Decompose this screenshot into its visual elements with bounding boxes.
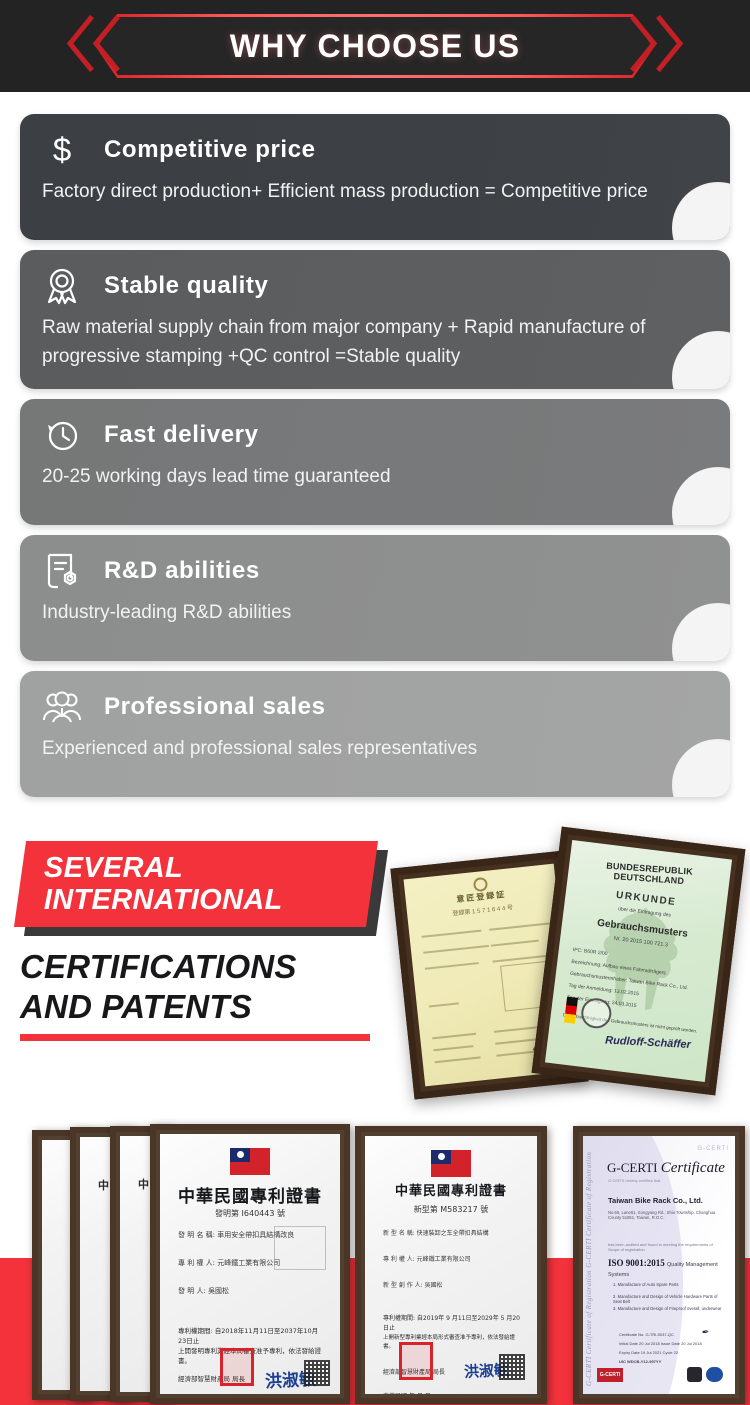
feature-title: Fast delivery [104, 422, 259, 448]
germany-utility-model-frame: BUNDESREPUBLIK DEUTSCHLAND URKUNDE über … [532, 827, 746, 1096]
g-certi-meta-2: Expiry Date 19 Jul 2021 Cycle 22 [619, 1350, 678, 1355]
feature-title: Stable quality [104, 273, 268, 299]
taiwan-mid-field-2: 新 型 創 作 人: 吳國松 [383, 1280, 443, 1289]
taiwan-utility-model-frame: 中華民國專利證書 新型第 M583217 號 新 型 名 稱: 快速裝卸之车全帶… [355, 1126, 547, 1404]
taiwan-field-2: 發 明 人: 吳國松 [178, 1286, 229, 1296]
g-certi-note: has been audited and found in meeting th… [608, 1242, 723, 1252]
g-certi-side-text: G-CERTI Certificate of Registration G-CE… [585, 1144, 605, 1386]
award-medal-icon [42, 266, 82, 306]
g-certi-meta-3: UIC WDCB-Y12-997YY [619, 1359, 661, 1364]
feature-card: Fast delivery 20-25 working days lead ti… [20, 399, 730, 525]
g-certi-badge: G-CERTI [597, 1368, 623, 1382]
g-certi-frame: G-CERTI Certificate of Registration G-CE… [573, 1126, 745, 1404]
clock-rewind-icon [42, 415, 82, 455]
taiwan-mid-seal [399, 1342, 433, 1380]
g-certi-meta-1: Initial Date 20 Jul 2018 Issue Date 20 J… [619, 1341, 702, 1346]
g-certi-address: No.60, Lane51, Songyang Rd., Shiu Townsh… [608, 1210, 725, 1220]
taiwan-red-seal [220, 1348, 254, 1386]
taiwan-field-1: 專 利 權 人: 元峰鐵工業有限公司 [178, 1258, 280, 1268]
taiwan-flag-icon [431, 1150, 471, 1177]
page-title: WHY CHOOSE US [95, 14, 655, 78]
banner-line-2: INTERNATIONAL [44, 884, 372, 916]
g-certi-scope-2: 3. Manufacture and Design of Fireproof o… [613, 1306, 725, 1311]
feature-description: Factory direct production+ Efficient mas… [42, 178, 706, 207]
taiwan-term: 專利權期間: 自2018年11月11日至2037年10月23日止 [178, 1326, 326, 1347]
certifications-intro: SEVERAL INTERNATIONAL CERTIFICATIONS AND… [0, 829, 750, 1099]
kab-mark-icon [687, 1367, 702, 1382]
g-certi-standard: ISO 9001:2015 Quality Management Systems [608, 1258, 735, 1278]
taiwan-mid-date: 中華民國 年 月 日 [383, 1392, 523, 1394]
heading-line-2: AND PATENTS [20, 987, 400, 1027]
bottom-certificate-row: 中 中 中華民國專利證書 發明第 Ⅰ640443 號 發 明 名 稱: 車用安全… [0, 1124, 750, 1405]
feature-description: 20-25 working days lead time guaranteed [42, 463, 706, 492]
g-certi-watermark: G-CERTI [697, 1146, 729, 1152]
g-certi-standard-code: ISO 9001:2015 [608, 1258, 665, 1268]
feature-description: Experienced and professional sales repre… [42, 735, 706, 764]
feature-card: R&D abilities Industry-leading R&D abili… [20, 535, 730, 661]
feature-title: Professional sales [104, 694, 326, 720]
g-certi-brand: G-CERTI [607, 1160, 658, 1175]
taiwan-drawing-box [274, 1226, 326, 1270]
g-certi-signature: ✒ [701, 1327, 709, 1339]
iaf-mark-icon [706, 1367, 723, 1382]
taiwan-mid-term: 專利權期間: 自2019年 9 月11日至2029年 5 月20日止 [383, 1314, 523, 1333]
svg-text:$: $ [53, 132, 71, 168]
heading-underline [20, 1034, 370, 1041]
taiwan-mid-qr-code [499, 1354, 525, 1380]
germany-country-line: BUNDESREPUBLIK DEUTSCHLAND [574, 858, 724, 888]
feature-card: $ Competitive price Factory direct produ… [20, 114, 730, 240]
certifications-heading: SEVERAL INTERNATIONAL CERTIFICATIONS AND… [20, 841, 400, 1041]
people-group-icon [42, 687, 82, 727]
taiwan-flag-icon [230, 1148, 270, 1175]
heading-line-1: CERTIFICATIONS [20, 947, 400, 987]
taiwan-cert-number: 發明第 Ⅰ640443 號 [160, 1208, 340, 1219]
title-banner: WHY CHOOSE US [95, 14, 655, 78]
g-certi-company: Taiwan Bike Rack Co., Ltd. [608, 1196, 703, 1205]
g-certi-accreditation-marks [687, 1367, 723, 1382]
taiwan-mid-sketch [481, 1224, 525, 1270]
taiwan-mid-field-0: 新 型 名 稱: 快速裝卸之车全帶扣具結構 [383, 1228, 489, 1237]
taiwan-mid-field-1: 專 利 權 人: 元峰鐵工業有限公司 [383, 1254, 471, 1263]
feature-title: R&D abilities [104, 558, 260, 584]
red-banner: SEVERAL INTERNATIONAL [14, 841, 378, 927]
feature-card-list: $ Competitive price Factory direct produ… [0, 92, 750, 815]
g-certi-title: G-CERTI Certificate [607, 1160, 725, 1177]
g-certi-scope-0: 1. Manufacture of Auto Spare Parts [613, 1282, 725, 1287]
feature-card: Professional sales Experienced and profe… [20, 671, 730, 797]
taiwan-qr-code [304, 1360, 330, 1386]
taiwan-mid-title: 中華民國專利證書 [365, 1180, 537, 1199]
framed-certificate-photos: 意匠登録証 登録第 1 5 7 1 6 4 4 号 伊藤 [398, 829, 734, 1097]
taiwan-mid-number: 新型第 M583217 號 [365, 1204, 537, 1215]
feature-description: Raw material supply chain from major com… [42, 314, 706, 371]
g-certi-word: Certificate [661, 1160, 725, 1176]
g-certi-subtitle: G-CERTI hereby certifies that [608, 1178, 660, 1183]
g-certi-meta-0: Certificate No. G-TRI-5037-QC [619, 1332, 674, 1337]
feature-title: Competitive price [104, 137, 316, 163]
taiwan-patent-stack: 中 中 中華民國專利證書 發明第 Ⅰ640443 號 發 明 名 稱: 車用安全… [32, 1124, 350, 1405]
dollar-sign-icon: $ [42, 130, 82, 170]
taiwan-cert-title: 中華民國專利證書 [160, 1182, 340, 1207]
certificate-document-icon [42, 551, 82, 591]
g-certi-scope-1: 2. Manufacture and Design of Vehicle Har… [613, 1294, 725, 1304]
page-header: WHY CHOOSE US [0, 0, 750, 92]
feature-description: Industry-leading R&D abilities [42, 599, 706, 628]
taiwan-patent-front: 中華民國專利證書 發明第 Ⅰ640443 號 發 明 名 稱: 車用安全帶扣具結… [150, 1124, 350, 1404]
banner-line-1: SEVERAL [44, 852, 372, 884]
feature-card: Stable quality Raw material supply chain… [20, 250, 730, 389]
